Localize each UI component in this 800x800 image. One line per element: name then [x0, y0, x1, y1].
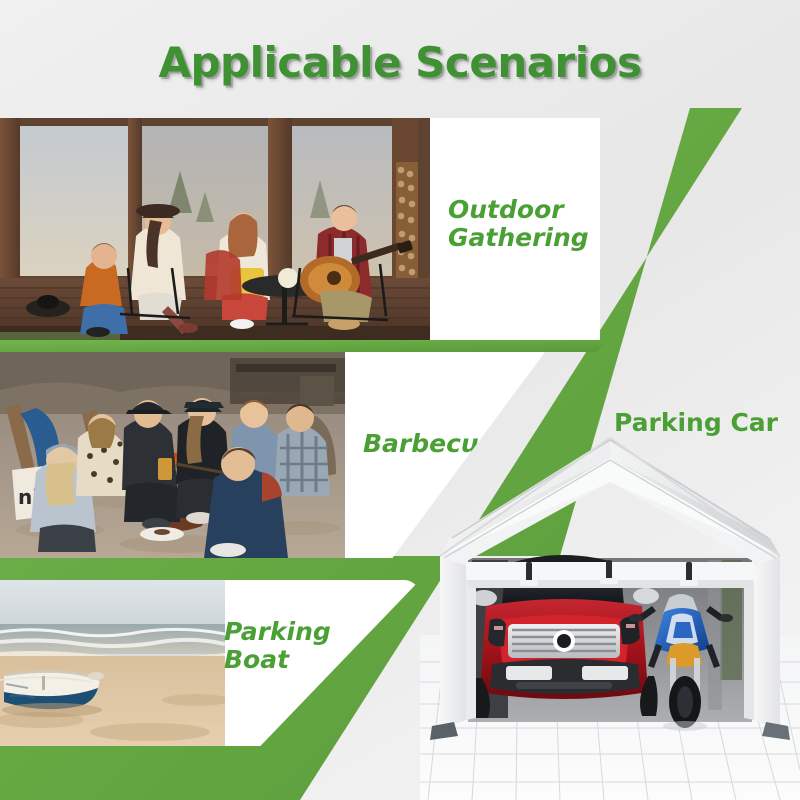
rowboat-icon: [0, 671, 104, 717]
photo-parking-boat: [0, 580, 225, 746]
photo-outdoor-gathering: [0, 118, 430, 340]
label-line-2: Gathering: [448, 223, 589, 252]
page-title: Applicable Scenarios: [158, 38, 641, 87]
label-line-2: Boat: [224, 645, 289, 674]
label-line-1: Outdoor: [448, 195, 564, 224]
feature-label-parking-car: Parking Car: [614, 408, 778, 437]
scenario-label-parking-boat: Parking Boat: [224, 618, 331, 674]
photo-barbecue: nic: [0, 352, 345, 558]
page-title-container: Applicable Scenarios: [0, 38, 800, 87]
scenario-card-outdoor-gathering: Outdoor Gathering: [0, 118, 600, 340]
carport-illustration: [420, 430, 800, 800]
scenario-label-outdoor-gathering: Outdoor Gathering: [448, 196, 589, 252]
label-line-1: Parking: [224, 617, 331, 646]
carport-tent-icon: [420, 430, 800, 800]
scenario-infographic: Applicable Scenarios: [0, 0, 800, 800]
